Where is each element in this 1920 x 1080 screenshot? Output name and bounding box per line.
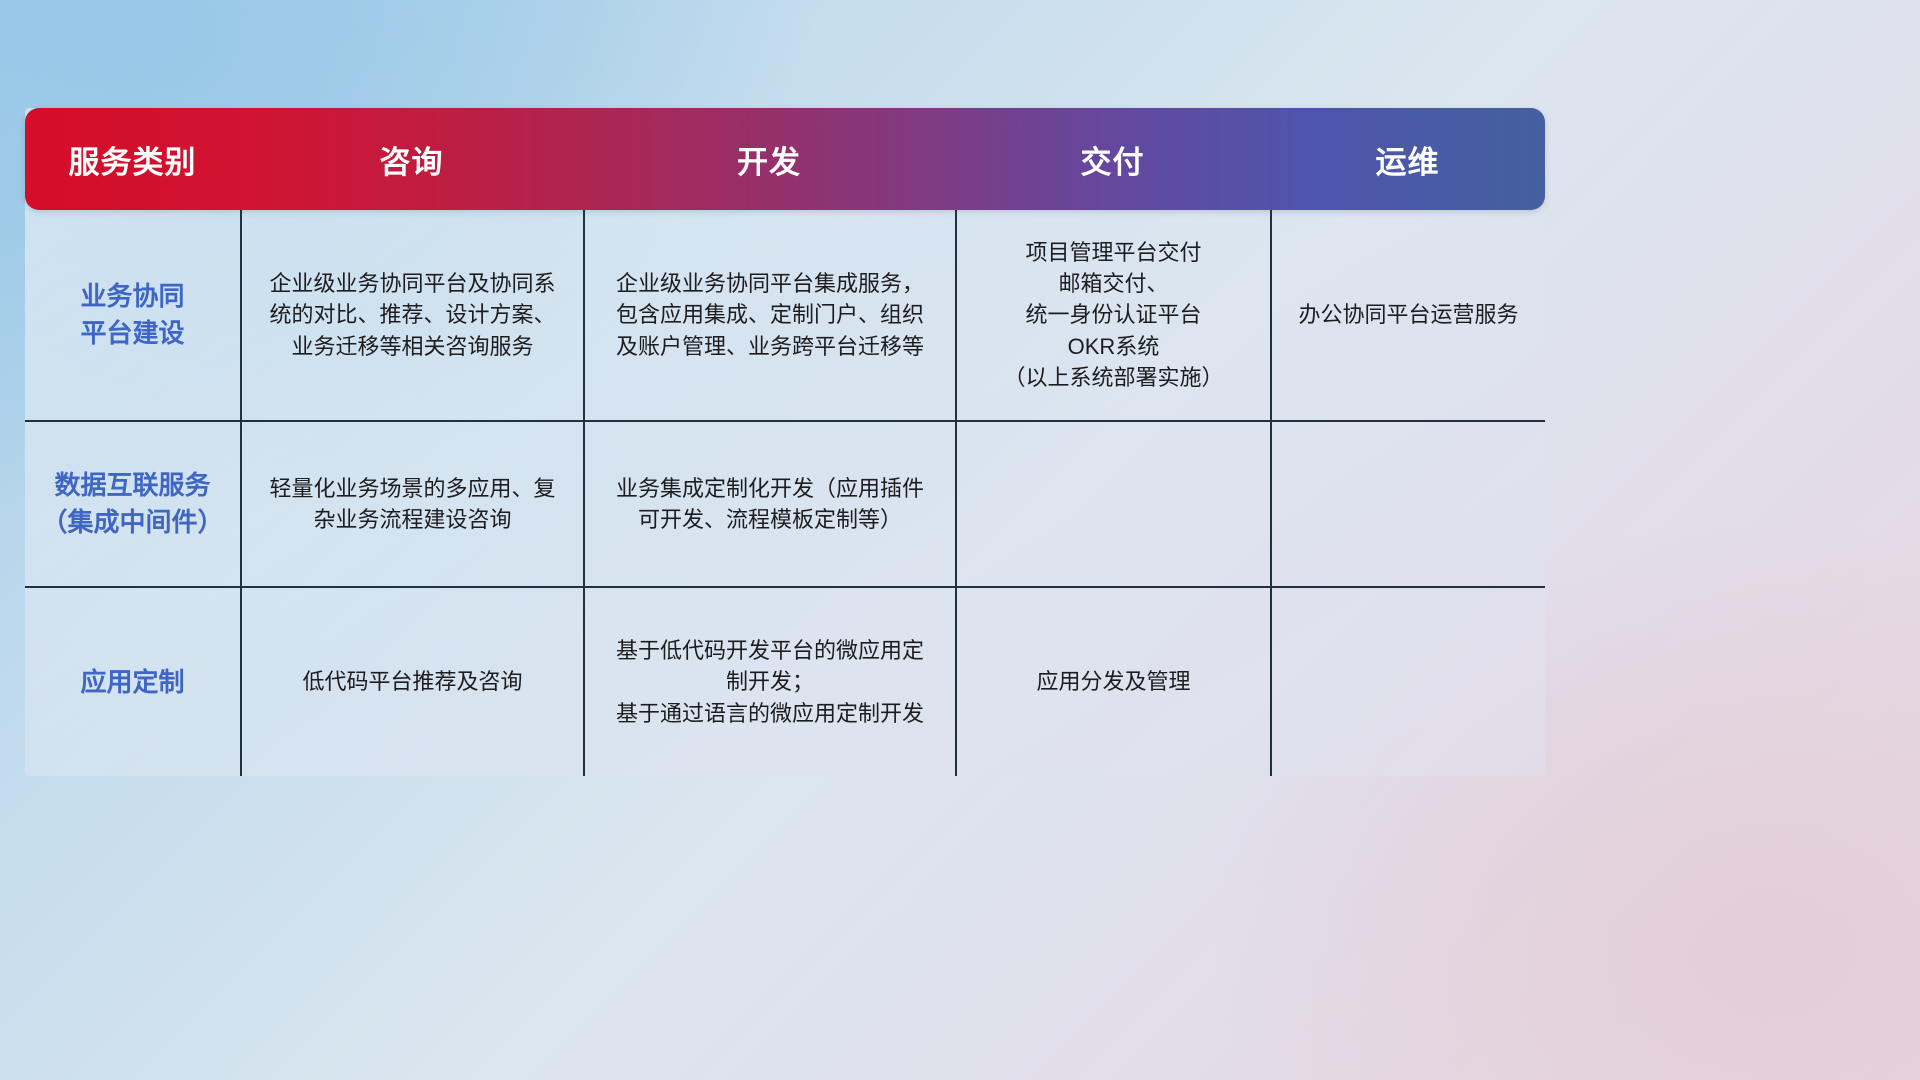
row-label-cell: 业务协同 平台建设 [25, 210, 240, 420]
table-row: 业务协同 平台建设 企业级业务协同平台及协同系 统的对比、推荐、设计方案、 业务… [25, 210, 1545, 420]
cell-development: 基于低代码开发平台的微应用定 制开发； 基于通过语言的微应用定制开发 [583, 588, 955, 776]
cell-delivery: 应用分发及管理 [955, 588, 1270, 776]
cell-delivery: 项目管理平台交付 邮箱交付、 统一身份认证平台 OKR系统 （以上系统部署实施） [955, 210, 1270, 420]
cell-consulting: 轻量化业务场景的多应用、复 杂业务流程建设咨询 [240, 422, 583, 586]
cell-consulting: 低代码平台推荐及咨询 [240, 588, 583, 776]
row-label-cell: 数据互联服务 （集成中间件） [25, 422, 240, 586]
row-label-cell: 应用定制 [25, 588, 240, 776]
service-matrix-table: 服务类别 咨询 开发 交付 运维 业务协同 平台建设 企业级业务协同平台及协同系… [25, 108, 1545, 776]
cell-development: 企业级业务协同平台集成服务， 包含应用集成、定制门户、组织 及账户管理、业务跨平… [583, 210, 955, 420]
column-header-development: 开发 [583, 137, 955, 182]
table-row: 数据互联服务 （集成中间件） 轻量化业务场景的多应用、复 杂业务流程建设咨询 业… [25, 420, 1545, 586]
column-header-category: 服务类别 [25, 137, 240, 182]
cell-development: 业务集成定制化开发（应用插件 可开发、流程模板定制等） [583, 422, 955, 586]
column-header-consulting: 咨询 [240, 137, 583, 182]
table-body: 业务协同 平台建设 企业级业务协同平台及协同系 统的对比、推荐、设计方案、 业务… [25, 210, 1545, 776]
column-header-operations: 运维 [1270, 137, 1545, 182]
cell-consulting: 企业级业务协同平台及协同系 统的对比、推荐、设计方案、 业务迁移等相关咨询服务 [240, 210, 583, 420]
table-row: 应用定制 低代码平台推荐及咨询 基于低代码开发平台的微应用定 制开发； 基于通过… [25, 586, 1545, 776]
table-header-row: 服务类别 咨询 开发 交付 运维 [25, 108, 1545, 210]
cell-delivery [955, 422, 1270, 586]
cell-operations [1270, 588, 1545, 776]
cell-operations [1270, 422, 1545, 586]
cell-operations: 办公协同平台运营服务 [1270, 210, 1545, 420]
column-header-delivery: 交付 [955, 137, 1270, 182]
